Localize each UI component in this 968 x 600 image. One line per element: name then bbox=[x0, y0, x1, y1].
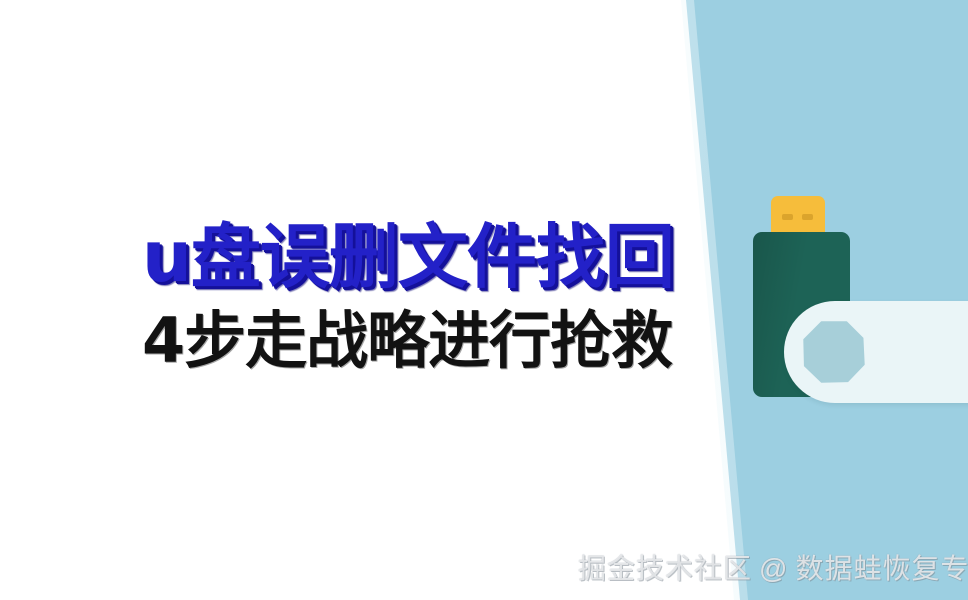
poster-root: u盘误删文件找回 4步走战略进行抢救 掘金技术社区@数据蛙恢复专家 bbox=[0, 0, 968, 600]
page-title: u盘误删文件找回 bbox=[142, 216, 702, 298]
watermark-separator: @ bbox=[752, 552, 795, 586]
watermark-site: 掘金技术社区 bbox=[578, 552, 752, 586]
usb-connector-slot-left bbox=[782, 214, 793, 220]
page-subtitle: 4步走战略进行抢救 bbox=[142, 304, 702, 378]
usb-connector-slot-right bbox=[802, 214, 813, 220]
usb-cover-hole-shape bbox=[802, 320, 866, 384]
watermark-author: 数据蛙恢复专家 bbox=[795, 552, 968, 586]
watermark: 掘金技术社区@数据蛙恢复专家 bbox=[578, 552, 968, 586]
headline-block: u盘误删文件找回 4步走战略进行抢救 bbox=[142, 216, 702, 378]
usb-swivel-cover-shape bbox=[784, 301, 968, 403]
usb-flash-drive-illustration bbox=[753, 196, 968, 441]
